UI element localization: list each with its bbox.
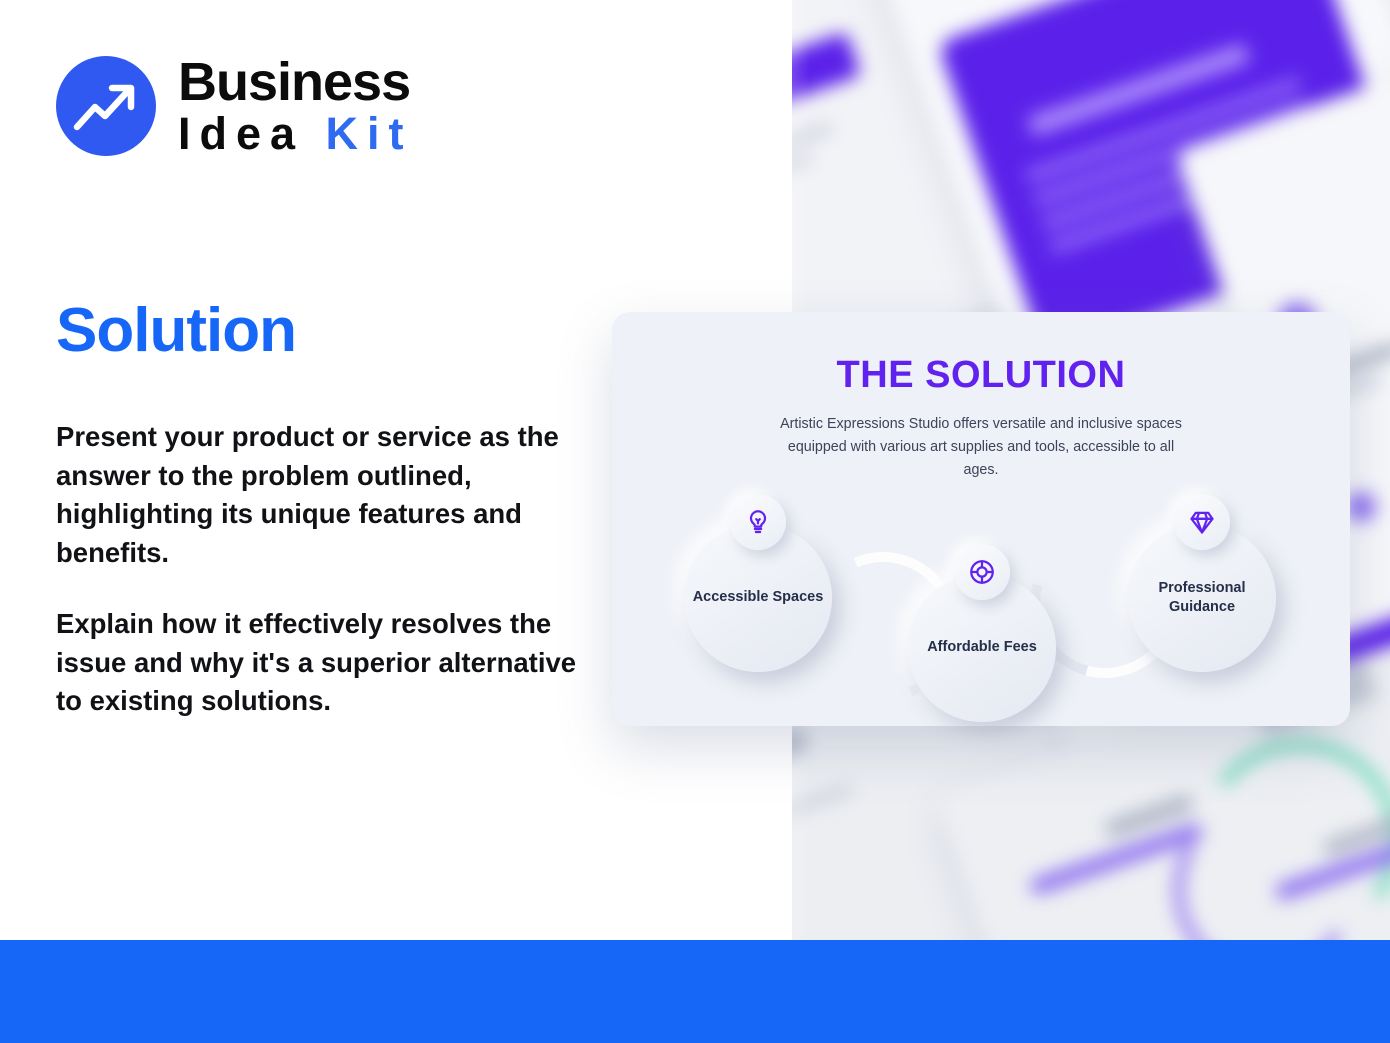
- brand-kit-text: Kit: [326, 108, 413, 159]
- solution-card-subtitle: Artistic Expressions Studio offers versa…: [771, 413, 1191, 482]
- solution-node-professional-guidance[interactable]: Professional Guidance: [1128, 524, 1276, 672]
- body-paragraph-1: Present your product or service as the a…: [56, 418, 596, 572]
- brand-idea-text: Idea: [178, 108, 326, 159]
- footer-bar: [0, 940, 1390, 1043]
- solution-node-affordable-fees[interactable]: Affordable Fees: [908, 574, 1056, 722]
- brand-name-line1: Business: [178, 55, 413, 109]
- trending-up-arrow-icon: [56, 56, 156, 156]
- solution-node-label: Accessible Spaces: [693, 588, 824, 607]
- page-title: Solution: [56, 295, 296, 366]
- diamond-icon: [1174, 494, 1230, 550]
- body-paragraph-2: Explain how it effectively resolves the …: [56, 605, 596, 721]
- brand-logo[interactable]: Business Idea Kit: [56, 55, 413, 156]
- solution-node-accessible-spaces[interactable]: Accessible Spaces: [684, 524, 832, 672]
- lifebuoy-icon: [954, 544, 1010, 600]
- solution-node-label: Affordable Fees: [927, 638, 1037, 657]
- page-body-copy: Present your product or service as the a…: [56, 418, 596, 721]
- lightbulb-icon: [730, 494, 786, 550]
- solution-node-label: Professional Guidance: [1128, 579, 1276, 616]
- solution-card: THE SOLUTION Artistic Expressions Studio…: [612, 312, 1350, 726]
- brand-name-line2: Idea Kit: [178, 111, 413, 156]
- solution-card-title: THE SOLUTION: [612, 354, 1350, 397]
- solution-node-group: Accessible Spaces Affordable Fees: [612, 488, 1350, 718]
